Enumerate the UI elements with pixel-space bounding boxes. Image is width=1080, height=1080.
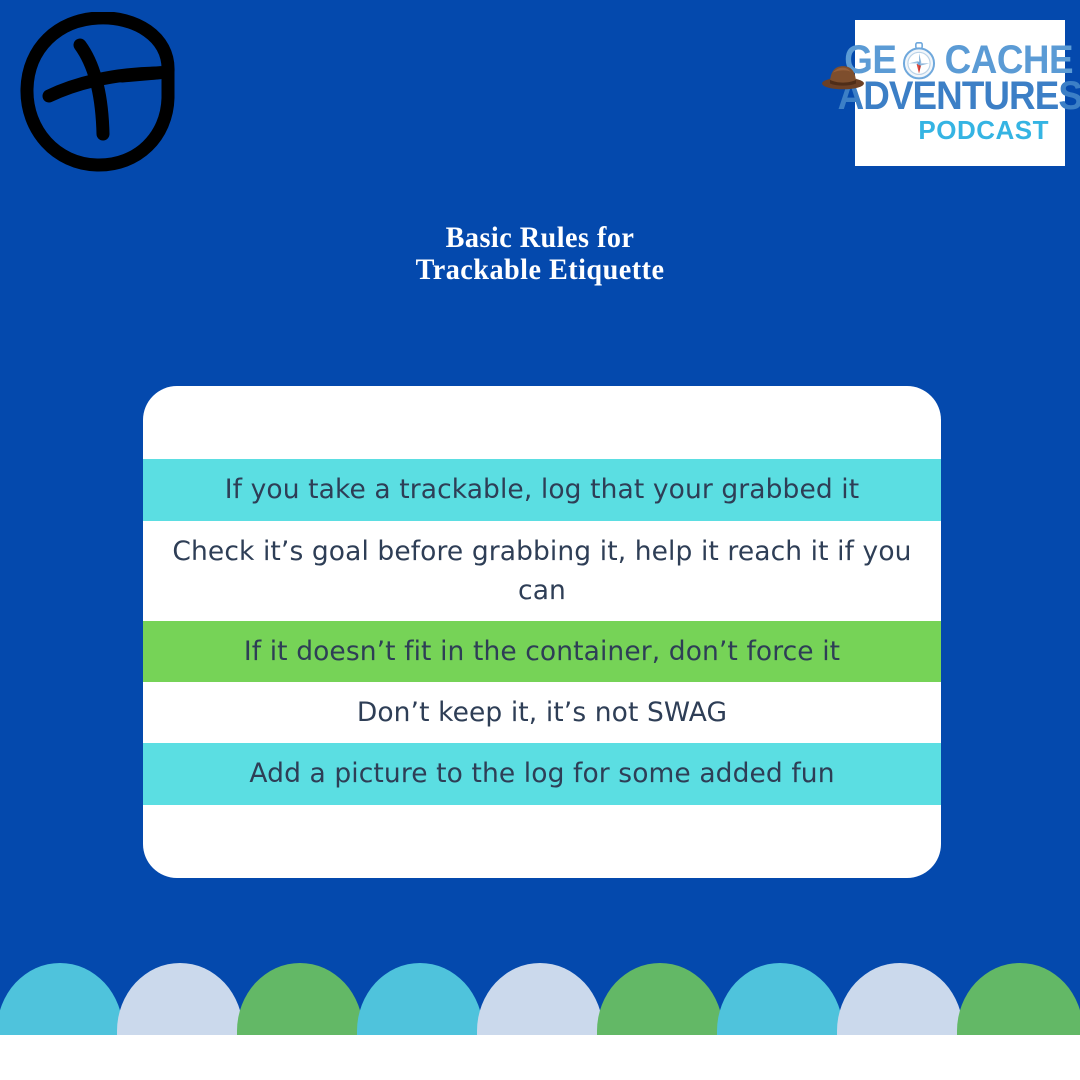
scallop-shape: [117, 963, 243, 1035]
bottom-white-strip: [0, 1035, 1080, 1080]
podcast-logo-card: GE CACHE ADVENTURES: [855, 20, 1065, 166]
scallop-shape: [0, 963, 123, 1035]
scallop-shape: [717, 963, 843, 1035]
page-title: Basic Rules for Trackable Etiquette: [0, 222, 1080, 286]
rule-row: Don’t keep it, it’s not SWAG: [143, 682, 941, 743]
rule-row: Add a picture to the log for some added …: [143, 743, 941, 804]
logo-word-adventures: ADVENTURES: [838, 78, 1080, 115]
scalloped-border: [0, 963, 1080, 1035]
scallop-shape: [477, 963, 603, 1035]
logo-word-podcast: PODCAST: [918, 115, 1049, 146]
scallop-shape: [237, 963, 363, 1035]
rule-row: Check it’s goal before grabbing it, help…: [143, 521, 941, 621]
scallop-shape: [357, 963, 483, 1035]
geocaching-logo-icon: [18, 12, 178, 172]
logo-line-adventures: ADVENTURES: [827, 78, 1080, 115]
title-line-2: Trackable Etiquette: [32, 254, 1047, 286]
scallop-shape: [597, 963, 723, 1035]
rule-row: If you take a trackable, log that your g…: [143, 459, 941, 520]
rules-card: If you take a trackable, log that your g…: [143, 386, 941, 878]
poster-canvas: GE CACHE ADVENTURES: [0, 0, 1080, 1080]
title-line-1: Basic Rules for: [32, 222, 1047, 254]
scallop-shape: [957, 963, 1080, 1035]
rule-row: If it doesn’t fit in the container, don’…: [143, 621, 941, 682]
scallop-shape: [837, 963, 963, 1035]
